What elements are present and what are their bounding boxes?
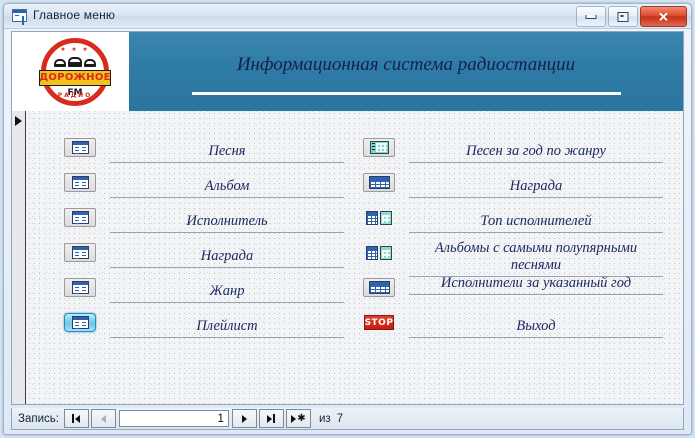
radio-logo-icon: ★ ★ ★ ★ ★ ДОРОЖНОЕ FM РАДИО [41,38,109,106]
menu-label: Альбомы с самыми полупярными песнями [409,240,663,277]
menu-item-top-artists[interactable]: Топ исполнителей [363,204,663,239]
close-icon: ✕ [658,10,669,23]
form-detail-section: Песня Альбом Исполнитель Награда [12,111,683,404]
minimize-button[interactable] [576,6,606,27]
car-icon [84,59,96,67]
open-top-artists-button[interactable] [363,208,395,227]
query-icon [370,141,389,154]
form-icon [72,176,89,189]
form-icon [72,316,89,329]
menu-column-left: Песня Альбом Исполнитель Награда [64,134,344,344]
menu-label: Плейлист [110,318,344,338]
open-song-form-button[interactable] [64,138,96,157]
menu-item-exit[interactable]: STOP Выход [363,309,663,344]
report-query-icon [366,246,392,260]
report-icon [369,176,390,189]
first-record-button[interactable] [64,409,89,428]
form-client-area: ★ ★ ★ ★ ★ ДОРОЖНОЕ FM РАДИО Информационн… [11,31,684,405]
record-label: Запись: [18,413,59,425]
open-artists-for-year-button[interactable] [363,278,395,297]
form-icon [72,281,89,294]
car-icon [68,57,82,67]
logo-band-text: ДОРОЖНОЕ [39,70,111,86]
menu-label: Награда [409,178,663,198]
menu-item-playlist[interactable]: Плейлист [64,309,344,344]
menu-label: Исполнитель [110,213,344,233]
menu-item-artist[interactable]: Исполнитель [64,204,344,239]
form-header: ★ ★ ★ ★ ★ ДОРОЖНОЕ FM РАДИО Информационн… [12,32,683,111]
report-query-icon [366,211,392,225]
current-record-arrow-icon [15,116,22,126]
logo: ★ ★ ★ ★ ★ ДОРОЖНОЕ FM РАДИО [21,33,129,110]
report-icon [369,281,390,294]
open-albums-popular-songs-button[interactable] [363,243,395,262]
current-record-input[interactable]: 1 [119,410,229,427]
restore-button[interactable] [608,6,638,27]
open-award-report-button[interactable] [363,173,395,192]
form-icon [72,246,89,259]
exit-button[interactable]: STOP [363,313,395,332]
menu-label: Топ исполнителей [409,213,663,233]
record-selector[interactable] [12,111,26,404]
close-button[interactable]: ✕ [640,6,687,27]
menu-label: Песня [110,143,344,163]
record-of-label: из [319,413,331,425]
menu-item-albums-with-popular-songs[interactable]: Альбомы с самыми полупярными песнями [363,239,663,274]
title-underline [192,92,621,95]
open-award-form-button[interactable] [64,243,96,262]
menu-column-right: Песен за год по жанру Награда Топ исполн… [363,134,663,344]
menu-label: Жанр [110,283,344,303]
menu-label: Альбом [110,178,344,198]
next-record-button[interactable] [232,409,257,428]
menu-label: Выход [409,318,663,338]
open-artist-form-button[interactable] [64,208,96,227]
menu-item-award[interactable]: Награда [64,239,344,274]
last-record-button[interactable] [259,409,284,428]
menu-label: Исполнители за указанный год [409,275,663,295]
title-bar: Главное меню ✕ [4,4,691,29]
car-icon [54,59,66,67]
minimize-icon [586,15,597,19]
access-form-window: Главное меню ✕ ★ ★ ★ ★ ★ ДОРОЖНОЕ FM [3,3,692,435]
logo-stars: ★ ★ ★ ★ ★ [46,46,104,53]
menu-item-genre[interactable]: Жанр [64,274,344,309]
logo-cars-icon [46,54,104,67]
menu-item-award-report[interactable]: Награда [363,169,663,204]
page-title: Информационная система радиостанции [129,54,683,76]
window-title: Главное меню [33,8,115,22]
form-icon [72,141,89,154]
new-record-button[interactable]: ✱ [286,409,311,428]
open-songs-per-year-query-button[interactable] [363,138,395,157]
menu-item-album[interactable]: Альбом [64,169,344,204]
menu-item-songs-per-year-by-genre[interactable]: Песен за год по жанру [363,134,663,169]
form-icon [12,9,27,22]
open-genre-form-button[interactable] [64,278,96,297]
previous-record-button[interactable] [91,409,116,428]
record-total: 7 [337,413,343,425]
stop-icon: STOP [364,315,394,330]
form-icon [72,211,89,224]
window-controls: ✕ [576,6,687,27]
menu-label: Песен за год по жанру [409,143,663,163]
menu-item-artists-for-year[interactable]: Исполнители за указанный год [363,274,663,309]
logo-radio-text: РАДИО [46,92,104,99]
menu-item-song[interactable]: Песня [64,134,344,169]
restore-icon [618,12,629,22]
open-album-form-button[interactable] [64,173,96,192]
menu-label: Награда [110,248,344,268]
open-playlist-form-button[interactable] [64,313,96,332]
record-navigator: Запись: 1 ✱ из 7 [11,408,684,430]
